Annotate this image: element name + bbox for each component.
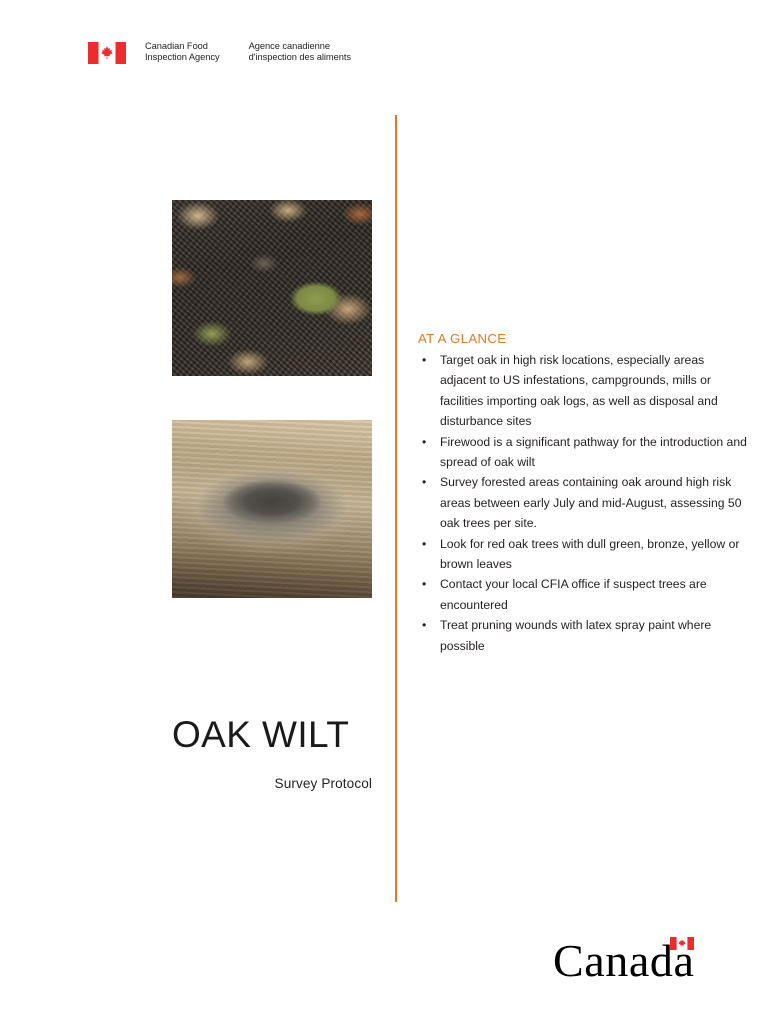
list-item: • Contact your local CFIA office if susp… bbox=[418, 574, 750, 615]
canadian-flag-icon bbox=[670, 937, 694, 950]
bullet-icon: • bbox=[422, 574, 426, 594]
list-item: • Treat pruning wounds with latex spray … bbox=[418, 615, 750, 656]
list-item: • Target oak in high risk locations, esp… bbox=[418, 350, 750, 432]
page-title: OAK WILT bbox=[172, 712, 372, 758]
document-page: Canadian Food Inspection Agency Agence c… bbox=[0, 0, 770, 1024]
bullet-icon: • bbox=[422, 432, 426, 452]
title-block: OAK WILT Survey Protocol bbox=[172, 712, 372, 793]
at-a-glance-list: • Target oak in high risk locations, esp… bbox=[418, 350, 750, 656]
canada-wordmark: Canada bbox=[553, 936, 695, 986]
list-item-text: Firewood is a significant pathway for th… bbox=[440, 435, 747, 469]
at-a-glance-heading: AT A GLANCE bbox=[418, 330, 750, 347]
cfia-agency-name-fr: Agence canadienne d'inspection des alime… bbox=[249, 41, 351, 64]
list-item-text: Target oak in high risk locations, espec… bbox=[440, 353, 718, 428]
cfia-logo: Canadian Food Inspection Agency Agence c… bbox=[88, 41, 351, 64]
photo-oak-wilt-fungal-mat bbox=[172, 420, 372, 598]
list-item-text: Survey forested areas containing oak aro… bbox=[440, 475, 741, 530]
list-item: • Look for red oak trees with dull green… bbox=[418, 534, 750, 575]
list-item-text: Look for red oak trees with dull green, … bbox=[440, 537, 739, 571]
at-a-glance-panel: AT A GLANCE • Target oak in high risk lo… bbox=[418, 330, 750, 656]
list-item: • Survey forested areas containing oak a… bbox=[418, 472, 750, 533]
vertical-divider bbox=[395, 115, 397, 902]
photo-oak-leaves-on-forest-floor bbox=[172, 200, 372, 376]
list-item: • Firewood is a significant pathway for … bbox=[418, 432, 750, 473]
canadian-flag-icon bbox=[88, 42, 126, 64]
list-item-text: Treat pruning wounds with latex spray pa… bbox=[440, 618, 711, 652]
bullet-icon: • bbox=[422, 534, 426, 554]
bullet-icon: • bbox=[422, 472, 426, 492]
bullet-icon: • bbox=[422, 350, 426, 370]
bullet-icon: • bbox=[422, 615, 426, 635]
cfia-agency-name-en: Canadian Food Inspection Agency bbox=[145, 41, 220, 64]
page-subtitle: Survey Protocol bbox=[172, 775, 372, 793]
list-item-text: Contact your local CFIA office if suspec… bbox=[440, 577, 707, 611]
